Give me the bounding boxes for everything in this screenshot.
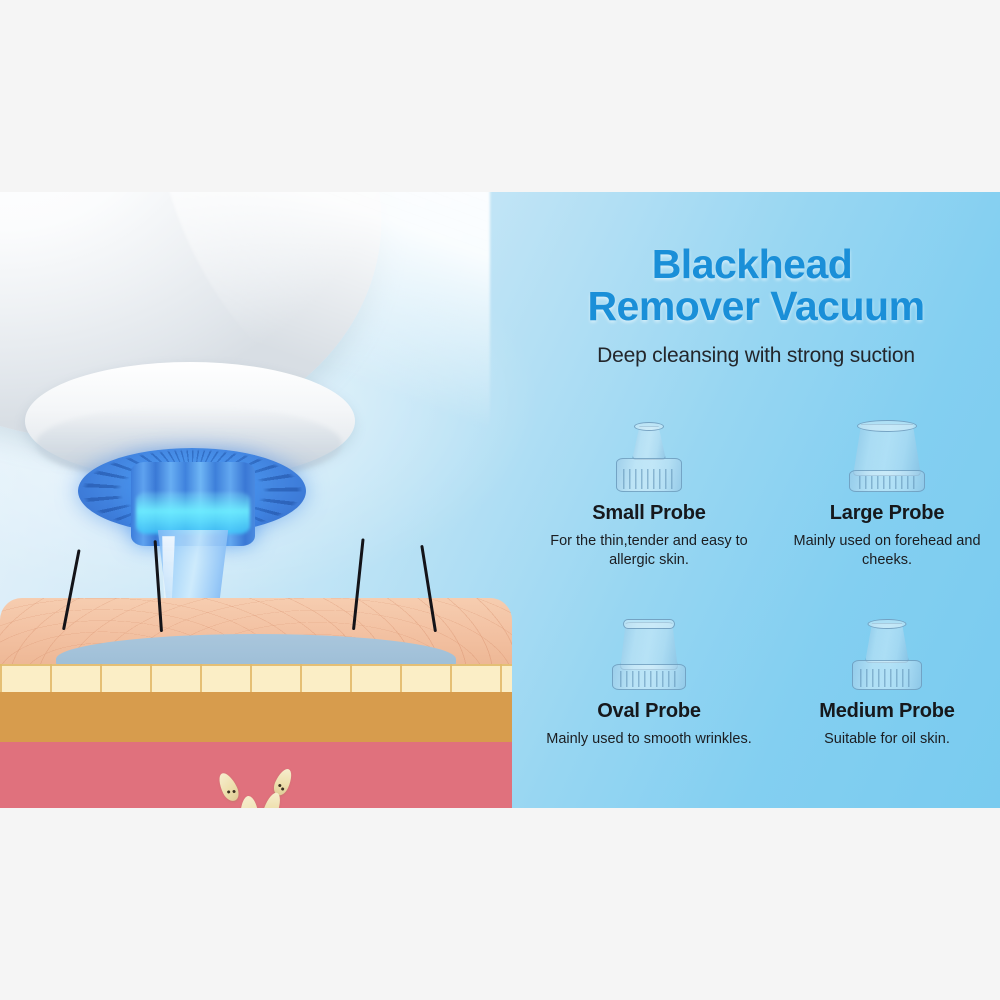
probe-item-oval: Oval Probe Mainly used to smooth wrinkle… xyxy=(536,612,762,794)
marketing-copy: Blackhead Remover Vacuum Deep cleansing … xyxy=(512,192,1000,808)
suction-head-glow xyxy=(136,492,250,534)
probe-item-small: Small Probe For the thin,tender and easy… xyxy=(536,414,762,596)
probe-item-medium: Medium Probe Suitable for oil skin. xyxy=(774,612,1000,794)
product-banner-page: Blackhead Remover Vacuum Deep cleansing … xyxy=(0,0,1000,1000)
probe-grid: Small Probe For the thin,tender and easy… xyxy=(536,414,1000,794)
probe-description: Mainly used to smooth wrinkles. xyxy=(546,730,752,749)
medium-probe-icon xyxy=(846,612,928,690)
headline-line-2: Remover Vacuum xyxy=(512,286,1000,328)
oval-probe-icon xyxy=(607,612,691,690)
subheadline: Deep cleansing with strong suction xyxy=(512,344,1000,368)
probe-description: Mainly used on forehead and cheeks. xyxy=(782,532,992,570)
product-banner: Blackhead Remover Vacuum Deep cleansing … xyxy=(0,192,1000,808)
probe-title: Large Probe xyxy=(830,502,945,525)
small-probe-icon xyxy=(610,414,688,492)
skin-layer-stratum-brick xyxy=(0,664,512,692)
probe-title: Small Probe xyxy=(592,502,705,525)
skin-layer-collagen-oval-cells xyxy=(0,692,512,742)
probe-description: For the thin,tender and easy to allergic… xyxy=(544,532,754,570)
probe-title: Oval Probe xyxy=(597,700,701,723)
headline-line-1: Blackhead xyxy=(512,244,1000,286)
device-skin-illustration xyxy=(0,192,512,808)
probe-item-large: Large Probe Mainly used on forehead and … xyxy=(774,414,1000,596)
large-probe-icon xyxy=(844,414,930,492)
probe-title: Medium Probe xyxy=(819,700,954,723)
probe-description: Suitable for oil skin. xyxy=(824,730,950,749)
headline: Blackhead Remover Vacuum xyxy=(512,244,1000,328)
skin-subcutaneous-nuclei xyxy=(0,742,512,808)
